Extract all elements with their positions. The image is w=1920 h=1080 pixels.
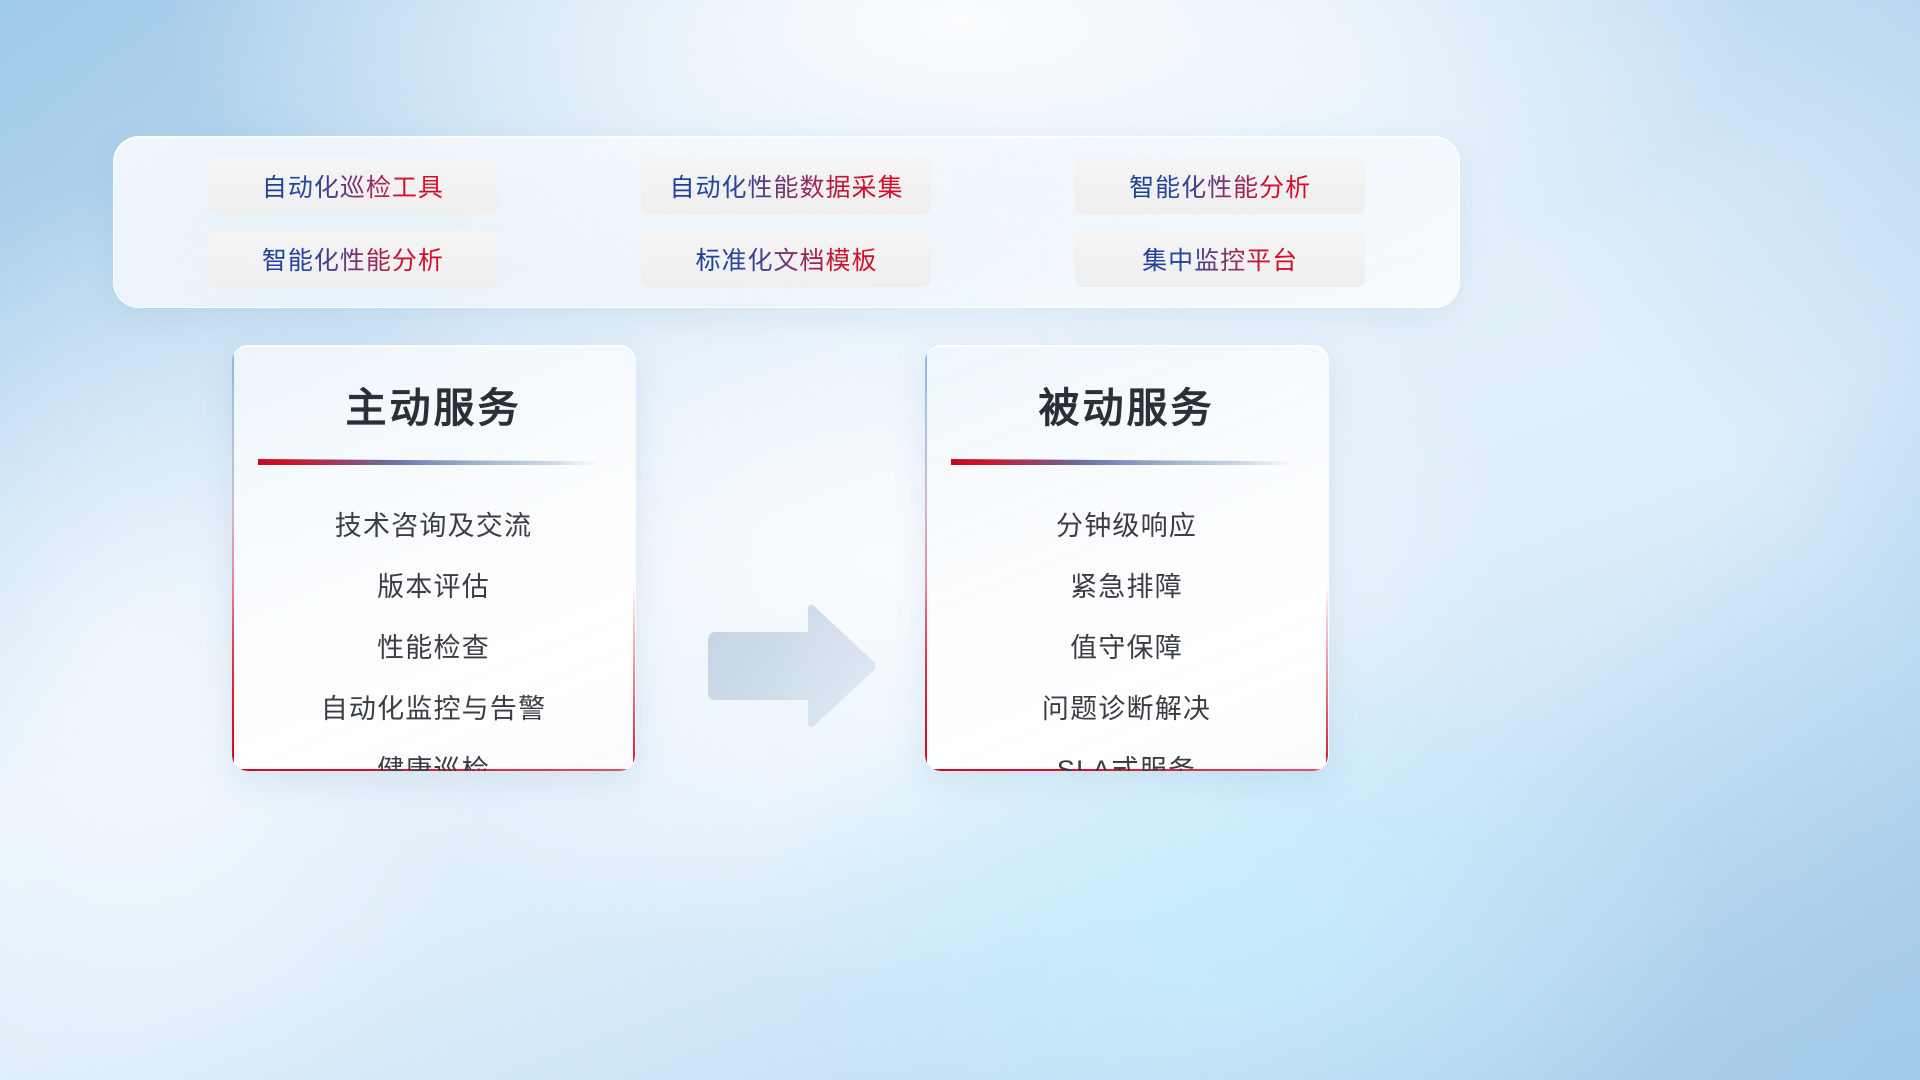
capability-tag-label: 自动化巡检工具 xyxy=(262,168,444,204)
card-title-reactive: 被动服务 xyxy=(925,346,1328,434)
service-list-item: 技术咨询及交流 xyxy=(232,496,635,557)
service-list-item: 自动化监控与告警 xyxy=(232,679,635,740)
card-title-proactive: 主动服务 xyxy=(232,346,635,434)
capability-tag-standard-document-template[interactable]: 标准化文档模板 xyxy=(640,230,932,288)
divider-bar xyxy=(951,459,1292,465)
capability-tag-label: 自动化性能数据采集 xyxy=(669,168,903,204)
capability-tag-intelligent-performance-analysis-2[interactable]: 智能化性能分析 xyxy=(207,230,499,288)
service-card-reactive[interactable]: 被动服务 分钟级响应 紧急排障 值守保障 问题诊断解决 SLA式服务 xyxy=(925,345,1329,771)
slide-canvas: 自动化巡检工具 自动化性能数据采集 智能化性能分析 智能化性能分析 标准化文档模… xyxy=(0,0,1920,1080)
capability-tag-label: 智能化性能分析 xyxy=(262,241,444,277)
capability-tag-automated-performance-collection[interactable]: 自动化性能数据采集 xyxy=(640,157,932,215)
capability-tag-label: 标准化文档模板 xyxy=(695,241,877,277)
service-card-proactive[interactable]: 主动服务 技术咨询及交流 版本评估 性能检查 自动化监控与告警 健康巡检 xyxy=(232,345,636,771)
capability-tag-panel: 自动化巡检工具 自动化性能数据采集 智能化性能分析 智能化性能分析 标准化文档模… xyxy=(113,136,1460,308)
capability-tag-automated-inspection-tool[interactable]: 自动化巡检工具 xyxy=(207,157,499,215)
capability-tag-centralized-monitoring-platform[interactable]: 集中监控平台 xyxy=(1074,230,1366,288)
service-list-item: 分钟级响应 xyxy=(925,496,1328,557)
capability-tag-label: 集中监控平台 xyxy=(1142,241,1298,277)
card-divider-gradient xyxy=(258,458,599,466)
service-list-item: 性能检查 xyxy=(232,618,635,679)
service-list-item: 健康巡检 xyxy=(232,740,635,771)
service-list-item: 紧急排障 xyxy=(925,557,1328,618)
capability-tag-intelligent-performance-analysis-1[interactable]: 智能化性能分析 xyxy=(1074,157,1366,215)
capability-tag-label: 智能化性能分析 xyxy=(1129,168,1311,204)
divider-bar xyxy=(258,459,599,465)
service-item-list-proactive: 技术咨询及交流 版本评估 性能检查 自动化监控与告警 健康巡检 xyxy=(232,466,635,771)
service-item-list-reactive: 分钟级响应 紧急排障 值守保障 问题诊断解决 SLA式服务 xyxy=(925,466,1328,771)
arrow-right-icon xyxy=(700,600,878,750)
service-list-item: SLA式服务 xyxy=(925,740,1328,771)
service-list-item: 版本评估 xyxy=(232,557,635,618)
service-list-item: 问题诊断解决 xyxy=(925,679,1328,740)
arrow-shape xyxy=(708,605,876,728)
card-divider-gradient xyxy=(951,458,1292,466)
service-list-item: 值守保障 xyxy=(925,618,1328,679)
